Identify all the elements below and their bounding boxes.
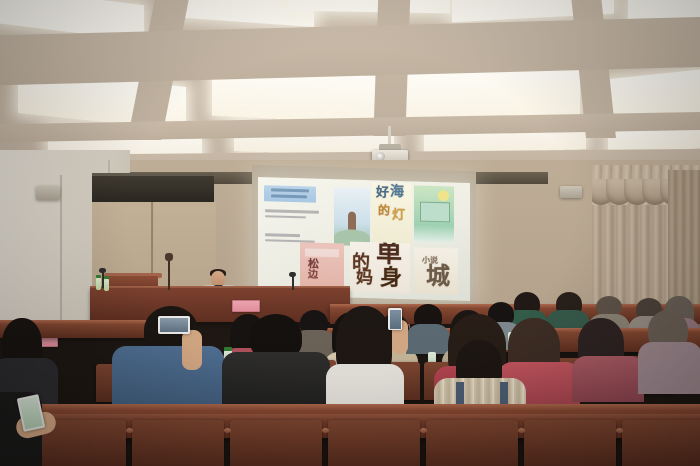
audience-shoulders — [572, 356, 644, 402]
chair-back[interactable] — [132, 420, 224, 466]
book-cover-calligraphy: 小说 城 — [414, 247, 458, 294]
microphone-head — [165, 253, 173, 261]
chair-back[interactable] — [524, 420, 616, 466]
ceiling-light-panel — [406, 67, 580, 121]
microphone-stand — [168, 258, 170, 290]
smartphone[interactable] — [388, 308, 402, 330]
chair-arm-cap — [224, 428, 231, 433]
left-valance-box — [92, 176, 214, 202]
microphone-stand — [292, 276, 294, 290]
chair-arm-cap — [420, 428, 427, 433]
water-bottle — [104, 279, 109, 291]
bottle-cap — [104, 276, 109, 279]
audience-shoulders — [406, 324, 450, 354]
bottle-cap — [224, 347, 232, 351]
chair-back[interactable] — [622, 420, 700, 466]
phone-screen — [160, 318, 188, 332]
audience-shoulders — [638, 342, 700, 394]
wall-seam — [60, 175, 62, 325]
water-bottle — [96, 278, 101, 290]
lecture-hall-photo: 好 海 的 灯 松 边 单 的 妈 身 小说 城 — [0, 0, 700, 466]
name-placard — [232, 300, 260, 312]
book-cover — [334, 187, 370, 246]
slide-header-box — [264, 185, 316, 202]
front-desk-edge — [0, 404, 700, 410]
audience-shoulders — [112, 346, 224, 412]
chair-back[interactable] — [328, 420, 420, 466]
chair-back[interactable] — [426, 420, 518, 466]
chair-arm-cap — [126, 428, 133, 433]
phone-screen — [390, 310, 401, 329]
book-cover — [414, 185, 454, 242]
microphone-head — [99, 268, 106, 273]
chair-back[interactable] — [230, 420, 322, 466]
smartphone-camera[interactable] — [158, 316, 190, 334]
wall-speaker-right — [560, 186, 582, 198]
microphone-head — [289, 272, 296, 277]
chair-arm-cap — [322, 428, 329, 433]
book-cover-calligraphy: 单 的 妈 身 — [350, 242, 410, 294]
bottle-cap — [96, 275, 101, 278]
phone-screen — [19, 396, 43, 429]
chair-arm-cap — [616, 428, 623, 433]
audience-arm — [182, 330, 202, 370]
projection-screen[interactable]: 好 海 的 灯 松 边 单 的 妈 身 小说 城 — [258, 177, 470, 301]
chair-arm-cap — [518, 428, 525, 433]
slide-paragraph — [265, 209, 321, 222]
book-cover: 好 海 的 灯 — [372, 182, 412, 245]
wall-speaker-left — [36, 186, 60, 200]
